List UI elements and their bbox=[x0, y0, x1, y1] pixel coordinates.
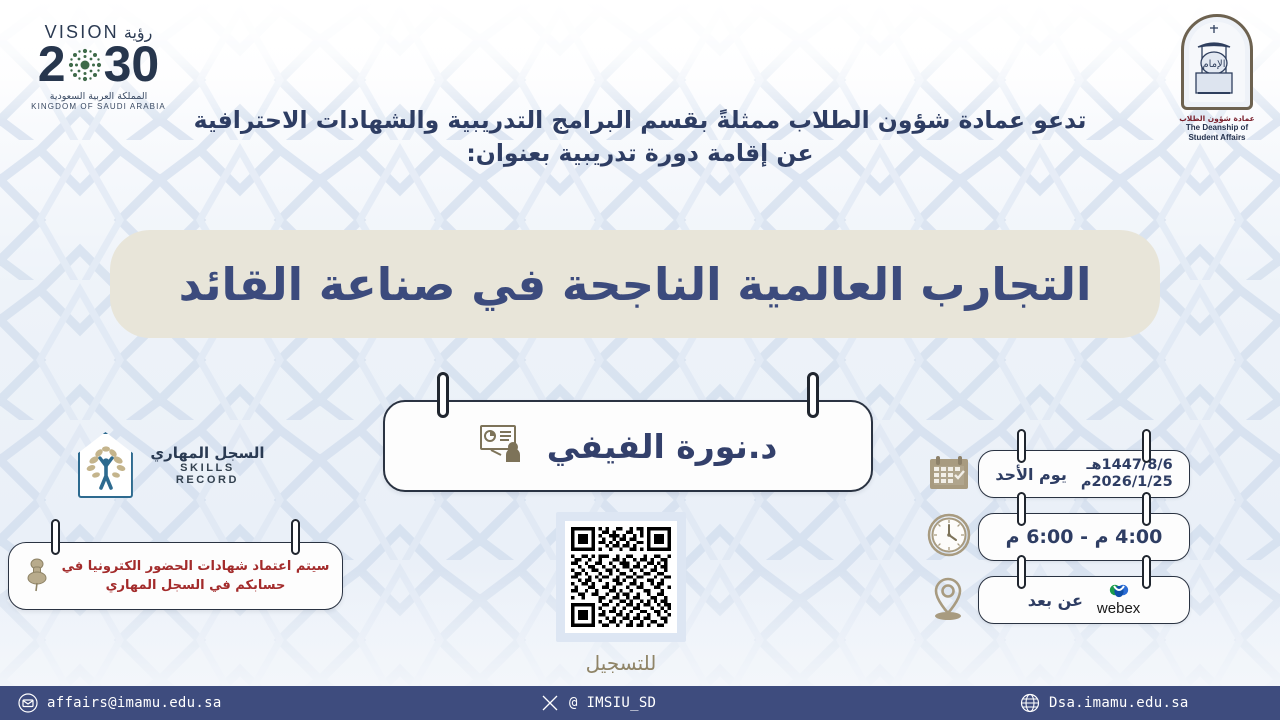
background-fade-top bbox=[0, 0, 1280, 120]
date-card: 1447/8/6هـ 2026/1/25م يوم الأحد bbox=[978, 450, 1190, 498]
date-card-row: 1447/8/6هـ 2026/1/25م يوم الأحد bbox=[979, 457, 1189, 492]
envelope-icon bbox=[18, 693, 38, 713]
clock-icon bbox=[927, 513, 971, 561]
pin-icon bbox=[1017, 492, 1026, 526]
location-pin-icon bbox=[927, 575, 969, 625]
deanship-logo: الإمام عمادة شؤون الطلاب The Deanship of… bbox=[1174, 14, 1260, 143]
invitation-header: تدعو عمادة شؤون الطلاب ممثلةً بقسم البرا… bbox=[175, 104, 1105, 171]
course-title-banner: التجارب العالمية الناجحة في صناعة القائد bbox=[110, 230, 1160, 338]
time-card: 4:00 م - 6:00 م bbox=[978, 513, 1190, 561]
date-hijri: 1447/8/6هـ bbox=[1081, 457, 1173, 474]
x-twitter-icon bbox=[540, 693, 560, 713]
registration-qr-block[interactable]: للتسجيل bbox=[556, 512, 686, 675]
skills-record-logo: السجل المهاري SKILLS RECORD bbox=[78, 432, 268, 498]
invitation-line-2: عن إقامة دورة تدريبية بعنوان: bbox=[175, 137, 1105, 170]
date-day-label: يوم الأحد bbox=[995, 465, 1067, 484]
vision-digit-2: 2 bbox=[38, 41, 66, 89]
vision-2030-logo: VISION رؤية 2 bbox=[26, 22, 171, 111]
footer-bar: affairs@imamu.edu.sa @ IMSIU_SD Dsa.imam… bbox=[0, 686, 1280, 720]
deanship-name-english-line2: Student Affairs bbox=[1174, 133, 1260, 143]
webex-wordmark: webex bbox=[1097, 601, 1140, 616]
footer-website-text: Dsa.imamu.edu.sa bbox=[1049, 695, 1189, 711]
invitation-line-1: تدعو عمادة شؤون الطلاب ممثلةً بقسم البرا… bbox=[175, 104, 1105, 137]
footer-social-item[interactable]: @ IMSIU_SD bbox=[540, 693, 656, 713]
deanship-name-english-line1: The Deanship of bbox=[1174, 123, 1260, 133]
footer-email-text: affairs@imamu.edu.sa bbox=[47, 695, 222, 711]
svg-text:الإمام: الإمام bbox=[1202, 59, 1225, 70]
certificate-note-line-1: سيتم اعتماد شهادات الحضور الكترونيا في bbox=[62, 559, 330, 574]
skills-record-name-english: SKILLS RECORD bbox=[147, 462, 268, 486]
presenter-icon bbox=[479, 424, 527, 468]
pin-icon bbox=[1142, 429, 1151, 463]
location-label: عن بعد bbox=[1028, 591, 1083, 610]
vision-year: 2 bbox=[26, 41, 171, 89]
calendar-icon bbox=[927, 452, 971, 496]
skills-record-text: السجل المهاري SKILLS RECORD bbox=[147, 444, 268, 486]
speaker-card: د.نورة الفيفي bbox=[383, 400, 873, 492]
webex-mark-icon bbox=[1108, 584, 1130, 600]
pushpin-icon bbox=[22, 556, 52, 596]
pin-icon bbox=[1142, 555, 1151, 589]
qr-code-icon[interactable] bbox=[565, 521, 677, 633]
certificate-note-text: سيتم اعتماد شهادات الحضور الكترونيا في ح… bbox=[62, 557, 330, 596]
vision-subtitle-arabic: المملكة العربية السعودية bbox=[26, 91, 171, 102]
vision-digits-30: 30 bbox=[104, 41, 160, 89]
skills-record-name-arabic: السجل المهاري bbox=[147, 444, 268, 462]
course-title: التجارب العالمية الناجحة في صناعة القائد bbox=[179, 258, 1092, 311]
certificate-note-card: سيتم اعتماد شهادات الحضور الكترونيا في ح… bbox=[8, 542, 343, 610]
footer-social-text: @ IMSIU_SD bbox=[569, 695, 656, 711]
time-card-row: 4:00 م - 6:00 م bbox=[979, 526, 1189, 548]
deanship-name-arabic: عمادة شؤون الطلاب bbox=[1174, 114, 1260, 123]
pin-icon bbox=[291, 519, 300, 555]
webex-logo: webex bbox=[1097, 584, 1140, 616]
skills-record-house-icon bbox=[78, 432, 133, 498]
location-card: webex عن بعد bbox=[978, 576, 1190, 624]
speaker-name: د.نورة الفيفي bbox=[547, 427, 778, 466]
footer-email-item[interactable]: affairs@imamu.edu.sa bbox=[18, 693, 222, 713]
pin-icon bbox=[1142, 492, 1151, 526]
pin-icon bbox=[437, 372, 449, 418]
pin-icon bbox=[1017, 429, 1026, 463]
location-card-row: webex عن بعد bbox=[979, 584, 1189, 616]
pin-icon bbox=[1017, 555, 1026, 589]
globe-icon bbox=[1020, 693, 1040, 713]
date-gregorian: 2026/1/25م bbox=[1081, 474, 1173, 491]
certificate-note-line-2: حسابكم في السجل المهاري bbox=[106, 578, 286, 593]
vision-subtitle-english: KINGDOM OF SAUDI ARABIA bbox=[26, 102, 171, 111]
pin-icon bbox=[807, 372, 819, 418]
footer-website-item[interactable]: Dsa.imamu.edu.sa bbox=[1020, 693, 1189, 713]
vision-emblem-icon bbox=[65, 45, 105, 85]
university-emblem-icon: الإمام bbox=[1181, 14, 1253, 110]
pin-icon bbox=[51, 519, 60, 555]
poster-canvas: VISION رؤية 2 bbox=[0, 0, 1280, 720]
qr-frame bbox=[556, 512, 686, 642]
date-values: 1447/8/6هـ 2026/1/25م bbox=[1081, 457, 1173, 492]
time-label: 4:00 م - 6:00 م bbox=[1006, 526, 1163, 548]
qr-registration-label: للتسجيل bbox=[556, 651, 686, 675]
